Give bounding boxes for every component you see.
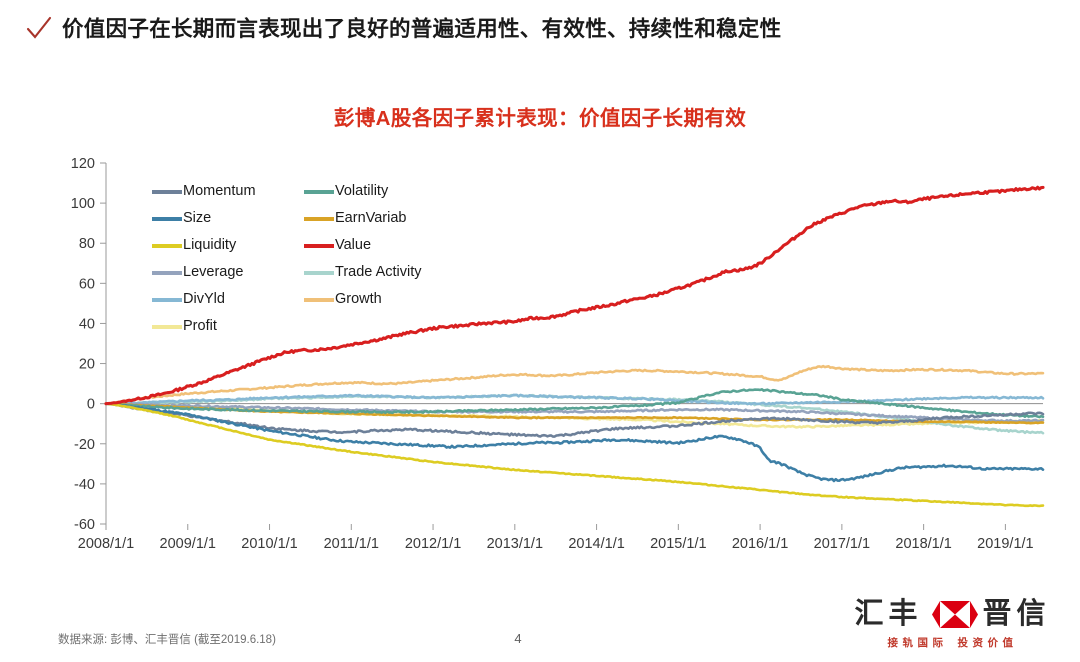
y-tick-label: 80 [79,236,95,252]
legend-item-momentum[interactable]: Momentum [152,178,304,205]
legend-label: DivYld [183,292,225,307]
legend-item-volatility[interactable]: Volatility [304,178,456,205]
legend-swatch [304,271,334,275]
legend-swatch [152,325,182,329]
legend-swatch [152,298,182,302]
legend-label: Trade Activity [335,265,422,280]
y-tick-label: 60 [79,276,95,292]
x-tick-label: 2012/1/1 [405,536,461,552]
y-tick-label: 40 [79,316,95,332]
legend-item-profit[interactable]: Profit [152,313,304,340]
legend-label: Momentum [183,184,256,199]
x-tick-label: 2019/1/1 [977,536,1033,552]
legend-item-earnvariab[interactable]: EarnVariab [304,205,456,232]
x-tick-label: 2014/1/1 [568,536,624,552]
legend-label: Liquidity [183,238,236,253]
legend-item-leverage[interactable]: Leverage [152,259,304,286]
x-tick-label: 2017/1/1 [814,536,870,552]
y-tick-label: -40 [74,477,95,493]
legend-swatch [304,217,334,221]
legend-swatch [152,244,182,248]
brand-logo: 汇丰 晋信 接轨国际投资价值 [845,597,1060,653]
legend-label: Volatility [335,184,388,199]
legend-label: EarnVariab [335,211,406,226]
y-tick-label: -60 [74,517,95,533]
legend-label: Profit [183,319,217,334]
legend-swatch [304,298,334,302]
y-tick-label: 100 [71,196,95,212]
legend-swatch [152,271,182,275]
hsbc-hexagon-icon [932,601,978,628]
legend-item-size[interactable]: Size [152,205,304,232]
logo-tagline: 接轨国际投资价值 [845,635,1060,650]
legend-item-growth[interactable]: Growth [304,286,456,313]
tagline-right: 投资价值 [958,638,1018,649]
legend-label: Growth [335,292,382,307]
legend-label: Value [335,238,371,253]
legend-label: Leverage [183,265,243,280]
x-tick-label: 2009/1/1 [160,536,216,552]
x-tick-label: 2018/1/1 [895,536,951,552]
logo-text-right: 晋信 [983,600,1051,629]
x-axis: 2008/1/12009/1/12010/1/12011/1/12012/1/1… [78,524,1034,552]
x-tick-label: 2015/1/1 [650,536,706,552]
x-tick-label: 2013/1/1 [487,536,543,552]
y-tick-label: 0 [87,397,95,413]
legend-label: Size [183,211,211,226]
check-icon [24,14,54,44]
chart-legend: MomentumVolatilitySizeEarnVariabLiquidit… [152,178,572,340]
x-tick-label: 2010/1/1 [241,536,297,552]
legend-item-trade-activity[interactable]: Trade Activity [304,259,456,286]
y-tick-label: 20 [79,357,95,373]
legend-swatch [152,217,182,221]
page-title: 价值因子在长期而言表现出了良好的普遍适用性、有效性、持续性和稳定性 [62,17,781,41]
logo-text-left: 汇丰 [854,600,922,629]
x-tick-label: 2011/1/1 [324,536,379,552]
tagline-left: 接轨国际 [888,638,948,649]
legend-swatch [152,190,182,194]
logo-wordmark: 汇丰 晋信 [845,597,1060,631]
slide-header: 价值因子在长期而言表现出了良好的普遍适用性、有效性、持续性和稳定性 [0,0,1080,58]
x-tick-label: 2008/1/1 [78,536,134,552]
chart-title: 彭博A股各因子累计表现：价值因子长期有效 [0,101,1080,131]
legend-item-divyld[interactable]: DivYld [152,286,304,313]
legend-swatch [304,190,334,194]
x-tick-label: 2016/1/1 [732,536,788,552]
legend-swatch [304,244,334,248]
y-tick-label: 120 [71,156,95,172]
legend-item-value[interactable]: Value [304,232,456,259]
legend-item-liquidity[interactable]: Liquidity [152,232,304,259]
y-tick-label: -20 [74,437,95,453]
